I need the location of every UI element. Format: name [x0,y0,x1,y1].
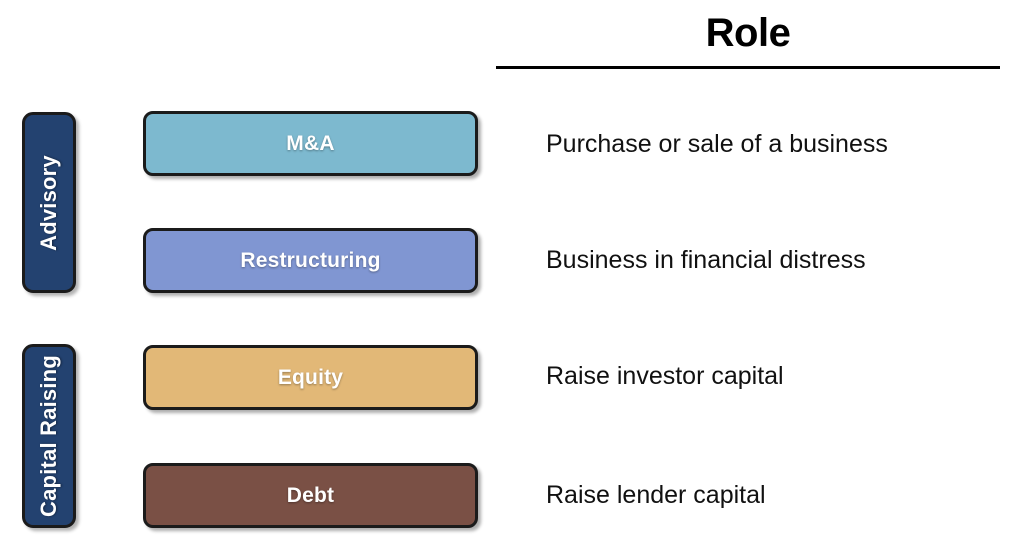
category-bar-advisory: Advisory [22,112,76,293]
product-label-restructuring: Restructuring [240,249,380,273]
product-box-equity[interactable]: Equity [143,345,478,410]
role-description-restructuring: Business in financial distress [546,244,1006,276]
role-description-ma: Purchase or sale of a business [546,128,1006,160]
product-label-ma: M&A [286,132,334,156]
category-label-advisory: Advisory [36,155,62,251]
product-box-debt[interactable]: Debt [143,463,478,528]
product-box-ma[interactable]: M&A [143,111,478,176]
product-box-restructuring[interactable]: Restructuring [143,228,478,293]
role-column-divider [496,66,1000,69]
product-label-equity: Equity [278,366,343,390]
category-bar-capital-raising: Capital Raising [22,344,76,528]
category-label-capital-raising: Capital Raising [36,355,62,517]
product-label-debt: Debt [287,484,334,508]
role-column-title: Role [496,8,1000,58]
role-description-equity: Raise investor capital [546,360,1006,392]
role-description-debt: Raise lender capital [546,479,1006,511]
diagram-canvas: Role Advisory Capital Raising M&A Purcha… [0,0,1024,552]
